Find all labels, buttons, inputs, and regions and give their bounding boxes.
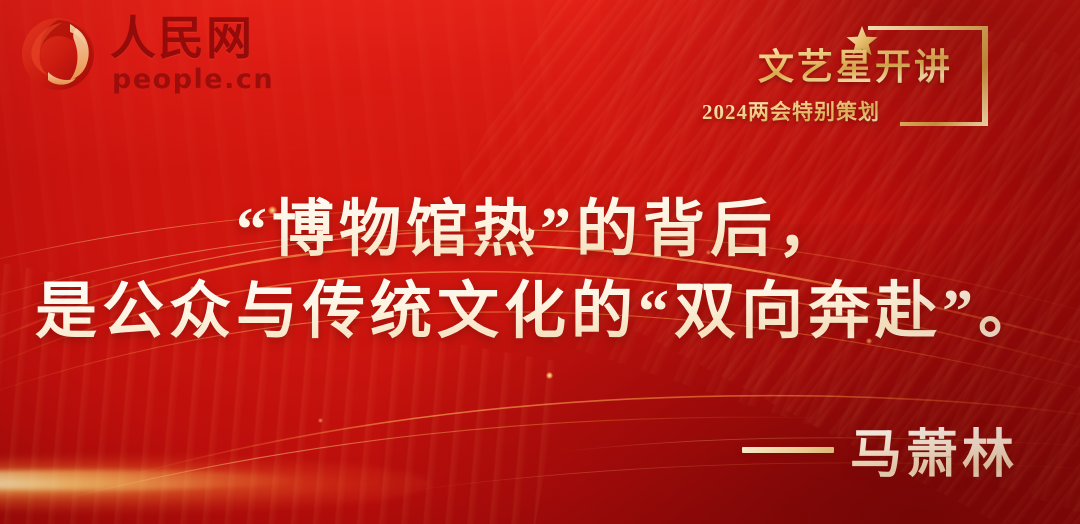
logo-wordmark: 人民网 people.cn [110,16,274,93]
quote-line-2: 是公众与传统文化的“双向奔赴”。 [0,272,1080,354]
people-cn-swirl-logo-icon [18,14,104,94]
program-title: 文艺星开讲 [758,38,953,90]
logo-name-cn: 人民网 [110,16,274,62]
program-subtitle: 2024两会特别策划 [702,96,880,126]
program-title-block[interactable]: 文艺星开讲 2024两会特别策划 [750,18,1010,134]
attribution-dash-icon [742,447,834,453]
logo-name-en: people.cn [112,66,274,93]
quote-block: “博物馆热”的背后， 是公众与传统文化的“双向奔赴”。 [0,190,1080,354]
people-cn-logo[interactable]: 人民网 people.cn [18,14,274,94]
quote-attribution: 马萧林 [742,412,1018,487]
poster-canvas: 人民网 people.cn [0,0,1080,524]
attribution-name: 马萧林 [850,412,1018,487]
quote-line-1: “博物馆热”的背后， [0,190,1080,272]
